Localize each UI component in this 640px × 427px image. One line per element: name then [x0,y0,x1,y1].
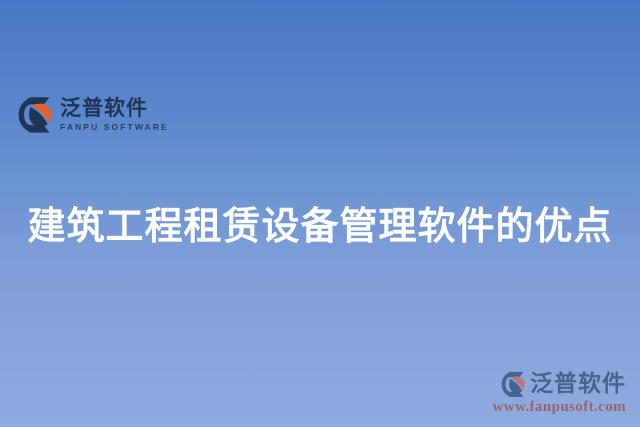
watermark-lockup: 泛普软件 [493,371,626,398]
watermark: 泛普软件 www.fanpusoft.com [493,371,626,415]
brand-text-block: 泛普软件 FANPU SOFTWARE [60,98,169,132]
page-title: 建筑工程租赁设备管理软件的优点 [0,203,640,251]
brand-subtitle: FANPU SOFTWARE [60,123,169,132]
watermark-name: 泛普软件 [530,373,626,396]
brand-logo: 泛普软件 FANPU SOFTWARE [18,96,169,134]
watermark-url: www.fanpusoft.com [493,400,626,415]
fanpu-hexagon-logo-icon [501,371,527,398]
brand-name: 泛普软件 [60,98,169,119]
banner-image: 泛普软件 FANPU SOFTWARE 建筑工程租赁设备管理软件的优点 泛普软件… [0,0,640,427]
fanpu-hexagon-logo-icon [18,96,54,134]
